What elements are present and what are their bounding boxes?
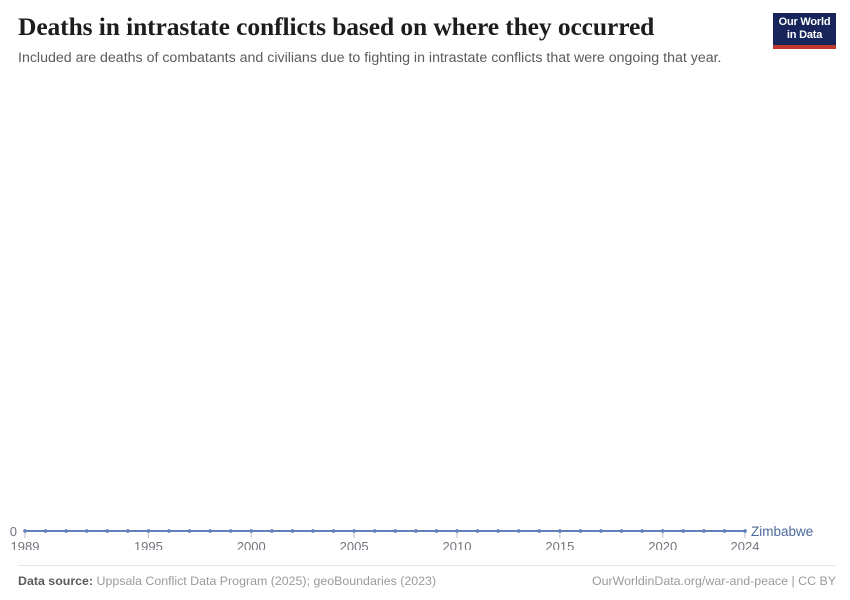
- chart-header: Deaths in intrastate conflicts based on …: [18, 12, 758, 68]
- x-axis-tick-label: 2005: [340, 539, 369, 550]
- data-point-marker[interactable]: [167, 529, 171, 533]
- data-point-marker[interactable]: [105, 529, 109, 533]
- x-axis-tick-label: 2000: [237, 539, 266, 550]
- x-axis-tick-label: 2015: [545, 539, 574, 550]
- data-point-marker[interactable]: [270, 529, 274, 533]
- data-point-marker[interactable]: [496, 529, 500, 533]
- owid-logo[interactable]: Our World in Data: [773, 13, 836, 49]
- data-point-marker[interactable]: [291, 529, 295, 533]
- data-point-marker[interactable]: [681, 529, 685, 533]
- source-text: Uppsala Conflict Data Program (2025); ge…: [97, 574, 437, 588]
- data-point-marker[interactable]: [188, 529, 192, 533]
- data-point-marker[interactable]: [723, 529, 727, 533]
- data-point-marker[interactable]: [208, 529, 212, 533]
- x-axis-tick-label: 1995: [134, 539, 163, 550]
- data-point-marker[interactable]: [85, 529, 89, 533]
- data-point-marker[interactable]: [23, 529, 27, 533]
- source-label: Data source:: [18, 574, 93, 588]
- data-point-marker[interactable]: [332, 529, 336, 533]
- data-point-marker[interactable]: [64, 529, 68, 533]
- data-point-marker[interactable]: [579, 529, 583, 533]
- data-point-marker[interactable]: [476, 529, 480, 533]
- line-chart-svg: 0 19891995200020052010201520202024 Zimba…: [0, 95, 850, 550]
- data-point-marker[interactable]: [393, 529, 397, 533]
- data-point-marker[interactable]: [435, 529, 439, 533]
- chart-subtitle: Included are deaths of combatants and ci…: [18, 49, 728, 68]
- x-axis-tick-label: 2024: [731, 539, 760, 550]
- y-axis-tick-label: 0: [10, 524, 17, 539]
- data-point-marker[interactable]: [249, 529, 253, 533]
- data-series-group[interactable]: Zimbabwe: [23, 524, 813, 539]
- chart-footer: Data source: Uppsala Conflict Data Progr…: [18, 565, 836, 588]
- owid-logo-line1: Our World: [779, 16, 831, 29]
- data-point-marker[interactable]: [537, 529, 541, 533]
- data-point-marker[interactable]: [455, 529, 459, 533]
- data-point-marker[interactable]: [229, 529, 233, 533]
- data-point-marker[interactable]: [352, 529, 356, 533]
- owid-logo-line2: in Data: [787, 29, 822, 42]
- x-axis-tick-label: 2020: [648, 539, 677, 550]
- x-axis-tick-label: 1989: [11, 539, 40, 550]
- y-axis: 0: [10, 524, 17, 539]
- x-axis: 19891995200020052010201520202024: [11, 533, 760, 550]
- data-point-marker[interactable]: [743, 529, 747, 533]
- data-point-marker[interactable]: [599, 529, 603, 533]
- data-point-marker[interactable]: [517, 529, 521, 533]
- footer-source: Data source: Uppsala Conflict Data Progr…: [18, 574, 436, 588]
- x-axis-tick-label: 2010: [443, 539, 472, 550]
- data-point-marker[interactable]: [147, 529, 151, 533]
- chart-plot-area[interactable]: 0 19891995200020052010201520202024 Zimba…: [0, 95, 850, 550]
- data-point-marker[interactable]: [44, 529, 48, 533]
- footer-attribution[interactable]: OurWorldinData.org/war-and-peace | CC BY: [592, 574, 836, 588]
- data-point-marker[interactable]: [640, 529, 644, 533]
- series-end-label[interactable]: Zimbabwe: [751, 524, 813, 539]
- data-point-marker[interactable]: [126, 529, 130, 533]
- page-title: Deaths in intrastate conflicts based on …: [18, 12, 758, 42]
- data-point-marker[interactable]: [661, 529, 665, 533]
- data-point-marker[interactable]: [558, 529, 562, 533]
- data-point-marker[interactable]: [702, 529, 706, 533]
- data-point-marker[interactable]: [311, 529, 315, 533]
- data-point-marker[interactable]: [414, 529, 418, 533]
- data-point-marker[interactable]: [373, 529, 377, 533]
- data-point-marker[interactable]: [620, 529, 624, 533]
